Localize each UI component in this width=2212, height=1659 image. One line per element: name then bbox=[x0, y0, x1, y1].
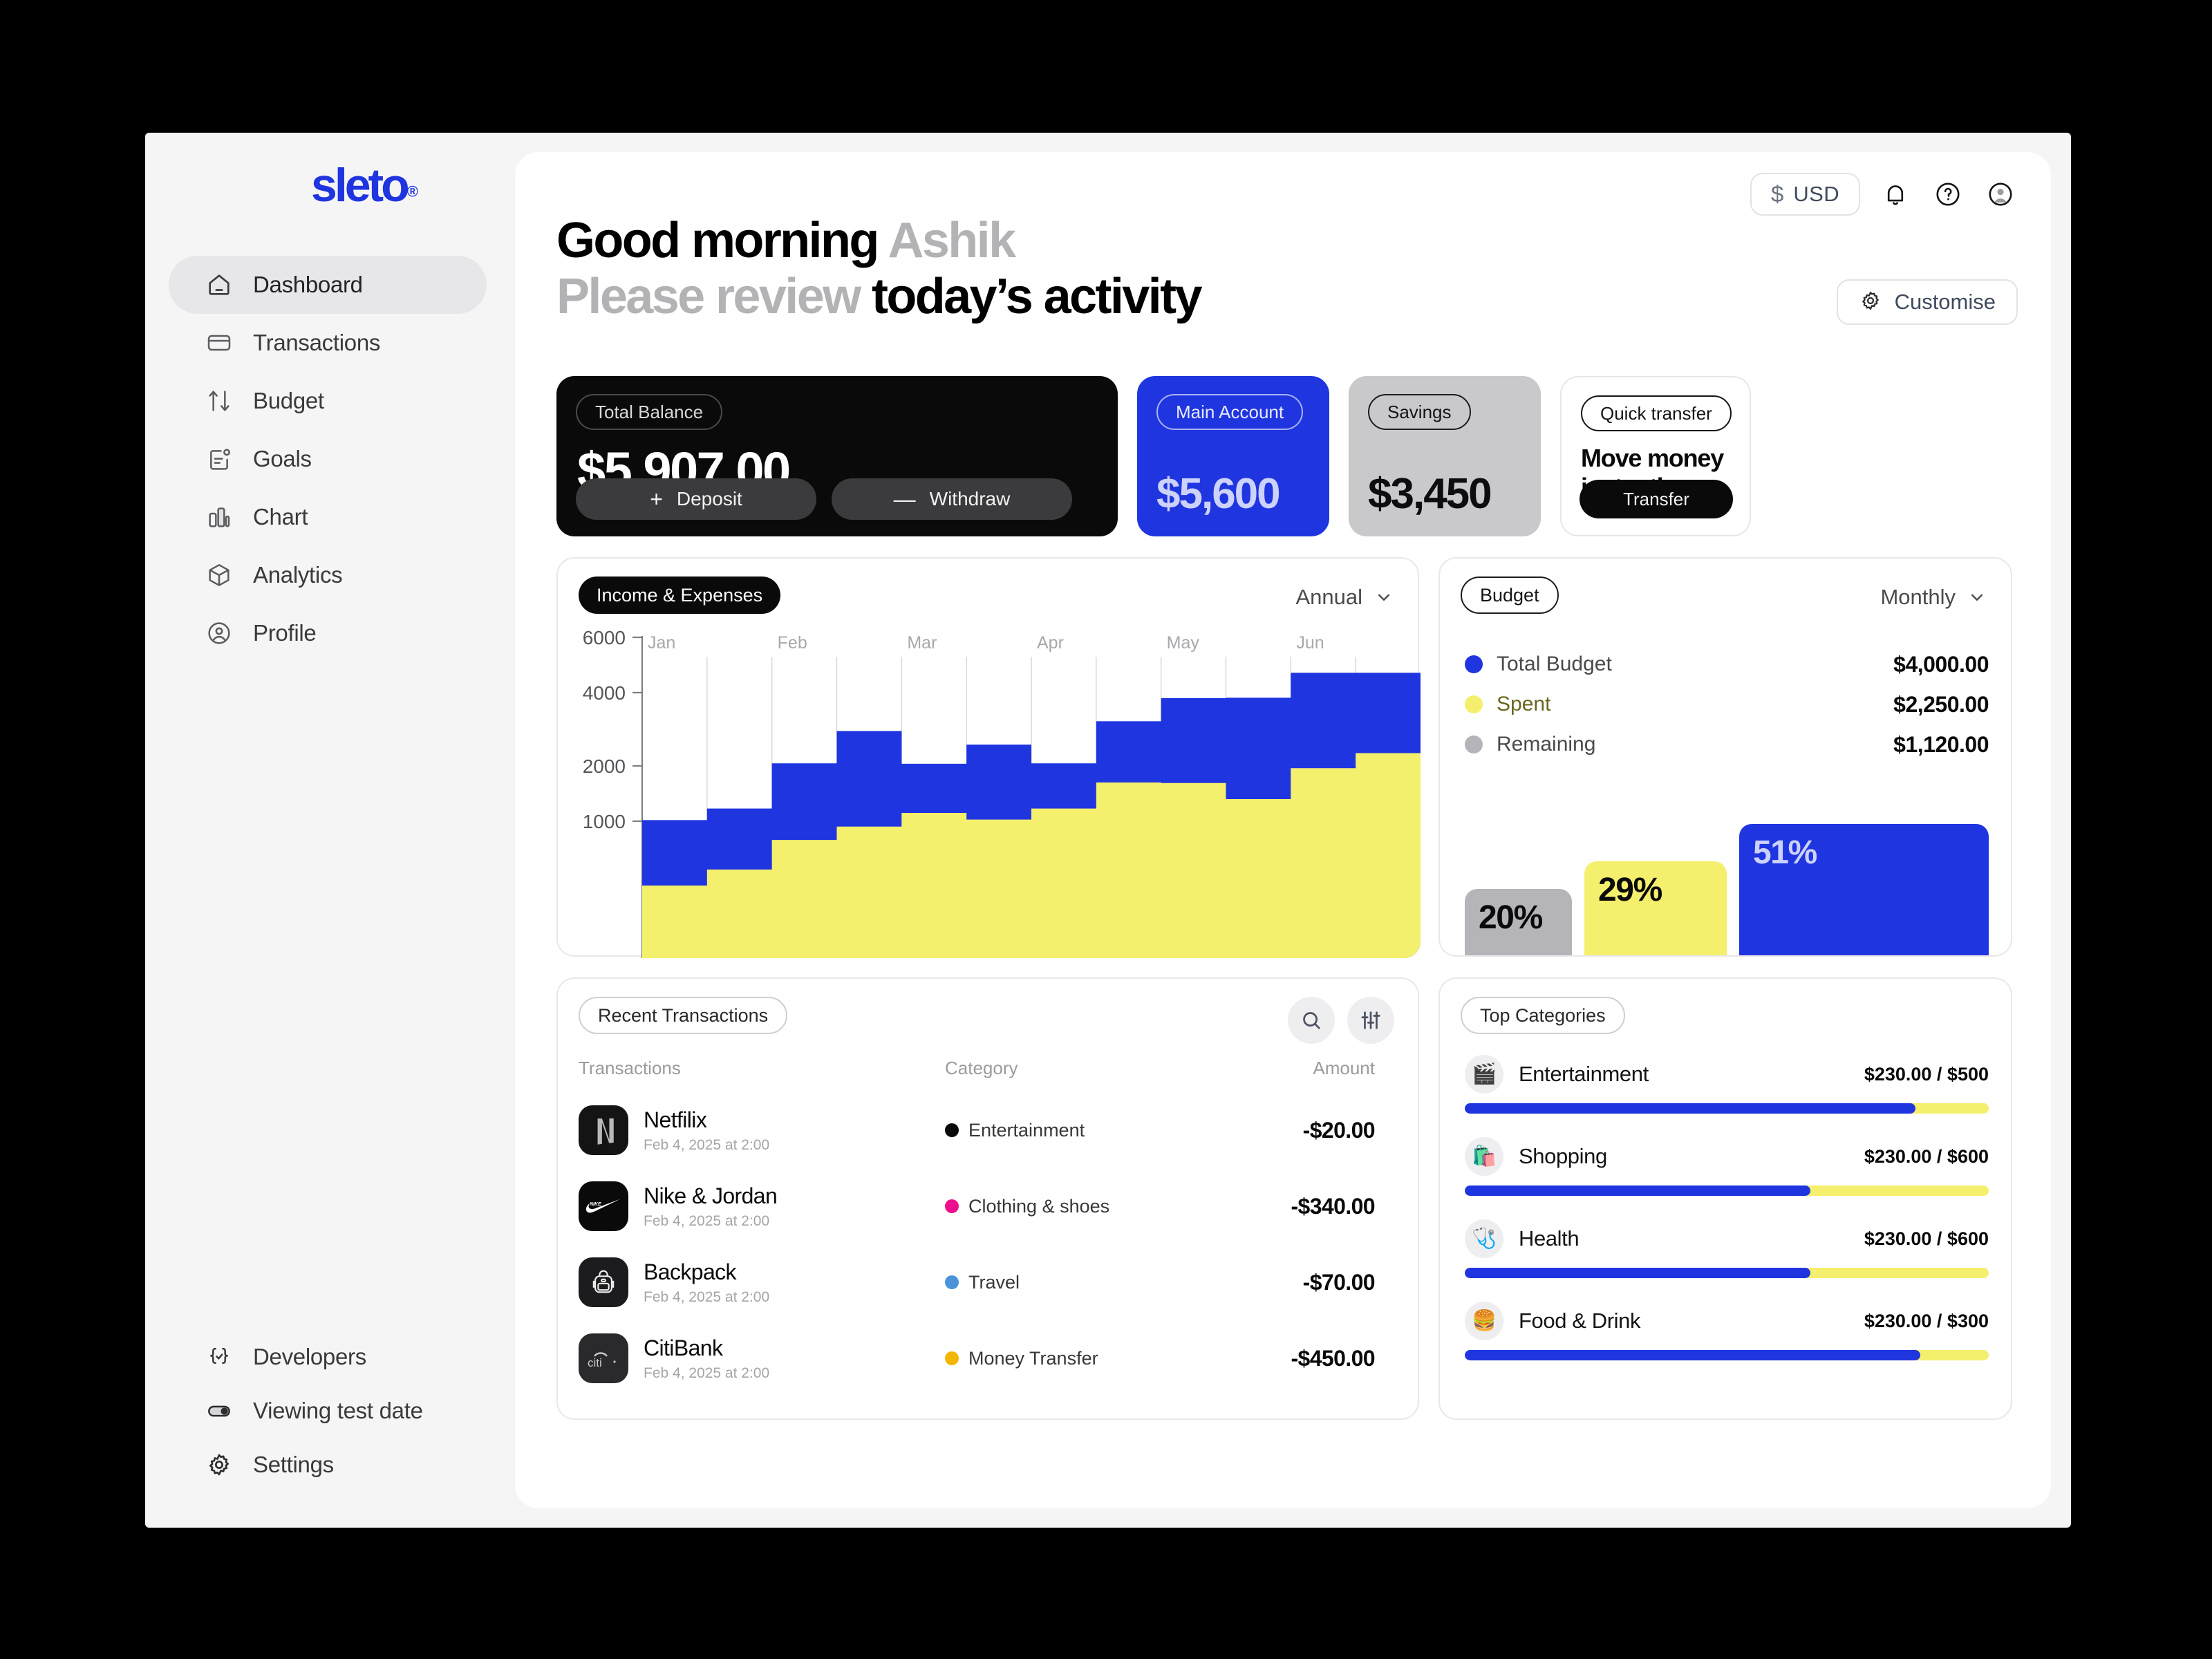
category-dot bbox=[945, 1275, 959, 1289]
budget-bar-total: 51% bbox=[1739, 824, 1989, 955]
category-amount: $230.00 / $300 bbox=[1864, 1311, 1989, 1332]
sidebar-item-chart[interactable]: Chart bbox=[169, 488, 487, 546]
transaction-date: Feb 4, 2025 at 2:00 bbox=[644, 1137, 769, 1154]
savings-pill: Savings bbox=[1368, 394, 1471, 430]
svg-text:Apr: Apr bbox=[1037, 633, 1064, 653]
deposit-button[interactable]: + Deposit bbox=[576, 478, 816, 520]
table-row[interactable]: NIKE Nike & Jordan Feb 4, 2025 at 2:00 C… bbox=[579, 1168, 1400, 1244]
svg-text:6000: 6000 bbox=[583, 628, 626, 648]
category-progress-track bbox=[1465, 1350, 1989, 1360]
list-item[interactable]: 🍔 Food & Drink $230.00 / $300 bbox=[1465, 1302, 1989, 1360]
bar-chart-icon bbox=[205, 503, 234, 532]
total-balance-card: Total Balance $5,907.00 + Deposit — With… bbox=[556, 376, 1118, 536]
brand-name: sleto bbox=[311, 162, 407, 209]
greeting-salutation: Good morning bbox=[556, 213, 878, 268]
chevron-down-icon bbox=[1967, 587, 1987, 608]
budget-bars: 20% 29% 51% bbox=[1465, 824, 1989, 955]
legend-value: $1,120.00 bbox=[1893, 732, 1989, 758]
category-progress-fill bbox=[1465, 1103, 1915, 1114]
transaction-date: Feb 4, 2025 at 2:00 bbox=[644, 1213, 777, 1230]
category-amount: $230.00 / $600 bbox=[1864, 1228, 1989, 1250]
savings-amount: $3,450 bbox=[1368, 469, 1491, 518]
citibank-logo: citi bbox=[579, 1333, 628, 1383]
category-progress-track bbox=[1465, 1103, 1989, 1114]
income-expenses-title: Income & Expenses bbox=[579, 577, 780, 614]
greeting-prompt: Please review bbox=[556, 269, 860, 324]
sidebar-item-goals[interactable]: Goals bbox=[169, 430, 487, 488]
recent-transactions-panel: Recent Transactions Transactions Categor… bbox=[556, 977, 1419, 1420]
transaction-name: Nike & Jordan bbox=[644, 1183, 777, 1209]
greeting-activity: today’s activity bbox=[872, 269, 1201, 324]
transaction-date: Feb 4, 2025 at 2:00 bbox=[644, 1365, 769, 1382]
home-icon bbox=[205, 270, 234, 299]
top-categories-panel: Top Categories 🎬 Entertainment $230.00 /… bbox=[1438, 977, 2012, 1420]
category-header: 🍔 Food & Drink $230.00 / $300 bbox=[1465, 1302, 1989, 1340]
sidebar-item-settings[interactable]: Settings bbox=[169, 1438, 487, 1492]
transaction-date: Feb 4, 2025 at 2:00 bbox=[644, 1289, 769, 1306]
food-drink-icon: 🍔 bbox=[1465, 1302, 1503, 1340]
sidebar-item-label: Analytics bbox=[253, 562, 342, 588]
greeting-username: Ashik bbox=[888, 213, 1014, 268]
budget-panel: Budget Monthly Total Budget $4,000.00 Sp… bbox=[1438, 557, 2012, 957]
shopping-icon: 🛍️ bbox=[1465, 1137, 1503, 1176]
transaction-amount: -$450.00 bbox=[1289, 1346, 1400, 1371]
transfer-button[interactable]: Transfer bbox=[1580, 480, 1733, 518]
main-account-card[interactable]: Main Account $5,600 bbox=[1137, 376, 1329, 536]
sidebar-item-label: Chart bbox=[253, 504, 308, 530]
savings-card[interactable]: Savings $3,450 bbox=[1349, 376, 1541, 536]
income-expenses-panel: Income & Expenses Annual JanFebMarAprMay… bbox=[556, 557, 1419, 957]
bell-icon[interactable] bbox=[1878, 177, 1913, 212]
category-label: Money Transfer bbox=[968, 1348, 1098, 1369]
health-icon: 🩺 bbox=[1465, 1219, 1503, 1258]
plus-icon: + bbox=[650, 487, 663, 512]
transaction-text: CitiBank Feb 4, 2025 at 2:00 bbox=[644, 1335, 769, 1382]
arrows-updown-icon bbox=[205, 386, 234, 415]
gear-icon bbox=[205, 1450, 234, 1479]
customise-label: Customise bbox=[1895, 290, 1996, 315]
greeting-line-1: Good morning Ashik bbox=[556, 213, 1201, 269]
search-button[interactable] bbox=[1288, 997, 1335, 1044]
withdraw-button[interactable]: — Withdraw bbox=[832, 478, 1072, 520]
budget-bar-label: 51% bbox=[1739, 824, 1817, 872]
app-window: sleto® Dashboard Transactions Budget Goa… bbox=[145, 133, 2071, 1528]
sidebar-nav: Dashboard Transactions Budget Goals Char… bbox=[169, 256, 487, 662]
transaction-identity: Netfilix Feb 4, 2025 at 2:00 bbox=[579, 1105, 945, 1155]
backpack-logo bbox=[579, 1257, 628, 1307]
netflix-logo bbox=[579, 1105, 628, 1155]
transaction-text: Nike & Jordan Feb 4, 2025 at 2:00 bbox=[644, 1183, 777, 1230]
transaction-identity: Backpack Feb 4, 2025 at 2:00 bbox=[579, 1257, 945, 1307]
sidebar-item-developers[interactable]: Developers bbox=[169, 1330, 487, 1384]
sidebar-item-transactions[interactable]: Transactions bbox=[169, 314, 487, 372]
quick-transfer-card: Quick transfer Move money instantly Tran… bbox=[1560, 376, 1751, 536]
transactions-actions bbox=[1288, 997, 1394, 1044]
code-check-icon bbox=[205, 1342, 234, 1371]
column-header-category: Category bbox=[945, 1058, 1289, 1079]
main-account-pill: Main Account bbox=[1156, 394, 1303, 430]
category-header: 🎬 Entertainment $230.00 / $500 bbox=[1465, 1055, 1989, 1094]
card-icon bbox=[205, 328, 234, 357]
toggle-icon bbox=[205, 1396, 234, 1425]
transaction-category: Clothing & shoes bbox=[945, 1196, 1289, 1217]
transaction-amount: -$20.00 bbox=[1289, 1118, 1400, 1143]
budget-title: Budget bbox=[1461, 577, 1559, 614]
income-range-label: Annual bbox=[1295, 585, 1362, 610]
svg-text:May: May bbox=[1167, 633, 1200, 653]
category-progress-fill bbox=[1465, 1268, 1810, 1278]
budget-range-selector[interactable]: Monthly bbox=[1880, 585, 1987, 610]
list-item[interactable]: 🛍️ Shopping $230.00 / $600 bbox=[1465, 1137, 1989, 1196]
sidebar-item-budget[interactable]: Budget bbox=[169, 372, 487, 430]
budget-bar-label: 20% bbox=[1465, 889, 1542, 937]
category-name: Food & Drink bbox=[1519, 1309, 1640, 1333]
minus-icon: — bbox=[894, 487, 916, 512]
svg-text:Feb: Feb bbox=[778, 633, 807, 653]
filter-sliders-icon bbox=[1359, 1009, 1382, 1032]
category-header: 🛍️ Shopping $230.00 / $600 bbox=[1465, 1137, 1989, 1176]
category-progress-track bbox=[1465, 1268, 1989, 1278]
legend-dot-remaining bbox=[1465, 735, 1483, 753]
legend-label: Remaining bbox=[1497, 733, 1595, 756]
greeting-line-2: Please review today’s activity bbox=[556, 269, 1201, 325]
nike-logo: NIKE bbox=[579, 1181, 628, 1231]
account-circle-icon[interactable] bbox=[1983, 177, 2018, 212]
goals-note-icon bbox=[205, 444, 234, 474]
category-label: Clothing & shoes bbox=[968, 1196, 1109, 1217]
budget-bar-spent: 29% bbox=[1584, 861, 1727, 955]
transactions-rows: Netfilix Feb 4, 2025 at 2:00 Entertainme… bbox=[579, 1092, 1400, 1396]
top-categories-rows: 🎬 Entertainment $230.00 / $500 🛍️ Shoppi… bbox=[1465, 1055, 1989, 1384]
transaction-identity: NIKE Nike & Jordan Feb 4, 2025 at 2:00 bbox=[579, 1181, 945, 1231]
total-balance-pill: Total Balance bbox=[576, 394, 722, 430]
sidebar-item-label: Goals bbox=[253, 446, 312, 472]
budget-legend: Total Budget $4,000.00 Spent $2,250.00 R… bbox=[1465, 644, 1989, 765]
transaction-amount: -$340.00 bbox=[1289, 1194, 1400, 1219]
svg-text:citi: citi bbox=[588, 1356, 602, 1369]
brand-logo[interactable]: sleto® bbox=[311, 162, 418, 209]
quick-transfer-pill: Quick transfer bbox=[1581, 395, 1732, 431]
registered-mark: ® bbox=[407, 183, 418, 200]
category-progress-fill bbox=[1465, 1350, 1920, 1360]
category-amount: $230.00 / $600 bbox=[1864, 1146, 1989, 1168]
income-expenses-chart: JanFebMarAprMayJun1000200040006000 bbox=[558, 628, 1421, 958]
income-range-selector[interactable]: Annual bbox=[1295, 585, 1394, 610]
budget-bar-label: 29% bbox=[1584, 861, 1662, 909]
table-row[interactable]: Backpack Feb 4, 2025 at 2:00 Travel -$70… bbox=[579, 1244, 1400, 1320]
sidebar-item-label: Settings bbox=[253, 1452, 334, 1478]
legend-label: Total Budget bbox=[1497, 653, 1612, 676]
gear-icon bbox=[1859, 289, 1882, 316]
topbar: $ USD bbox=[1750, 173, 2018, 216]
balance-actions: + Deposit — Withdraw bbox=[576, 478, 1072, 520]
transactions-column-headers: Transactions Category Amount bbox=[579, 1058, 1400, 1079]
svg-text:NIKE: NIKE bbox=[590, 1202, 601, 1207]
recent-transactions-title: Recent Transactions bbox=[579, 997, 787, 1034]
category-name: Health bbox=[1519, 1226, 1579, 1251]
list-item[interactable]: 🎬 Entertainment $230.00 / $500 bbox=[1465, 1055, 1989, 1114]
category-dot bbox=[945, 1199, 959, 1213]
dollar-icon: $ bbox=[1771, 181, 1783, 207]
transfer-label: Transfer bbox=[1623, 489, 1689, 510]
sidebar: sleto® Dashboard Transactions Budget Goa… bbox=[145, 133, 515, 1528]
transaction-text: Backpack Feb 4, 2025 at 2:00 bbox=[644, 1259, 769, 1306]
category-dot bbox=[945, 1123, 959, 1137]
category-amount: $230.00 / $500 bbox=[1864, 1064, 1989, 1085]
svg-text:Jun: Jun bbox=[1296, 633, 1324, 653]
entertainment-icon: 🎬 bbox=[1465, 1055, 1503, 1094]
category-progress-fill bbox=[1465, 1185, 1810, 1196]
transaction-text: Netfilix Feb 4, 2025 at 2:00 bbox=[644, 1107, 769, 1154]
budget-legend-row: Spent $2,250.00 bbox=[1465, 684, 1989, 724]
user-circle-icon bbox=[205, 619, 234, 648]
category-name: Shopping bbox=[1519, 1144, 1607, 1169]
cube-icon bbox=[205, 561, 234, 590]
transaction-name: CitiBank bbox=[644, 1335, 769, 1361]
greeting-block: Good morning Ashik Please review today’s… bbox=[556, 213, 1201, 326]
sidebar-item-label: Profile bbox=[253, 620, 316, 646]
list-item[interactable]: 🩺 Health $230.00 / $600 bbox=[1465, 1219, 1989, 1278]
sidebar-bottom-nav: Developers Viewing test date Settings bbox=[169, 1330, 487, 1492]
table-row[interactable]: citi CitiBank Feb 4, 2025 at 2:00 Money … bbox=[579, 1320, 1400, 1396]
main-account-amount: $5,600 bbox=[1156, 469, 1280, 518]
sidebar-item-label: Dashboard bbox=[253, 272, 363, 298]
sidebar-item-label: Viewing test date bbox=[253, 1398, 423, 1424]
transaction-name: Backpack bbox=[644, 1259, 769, 1285]
category-dot bbox=[945, 1351, 959, 1365]
transaction-identity: citi CitiBank Feb 4, 2025 at 2:00 bbox=[579, 1333, 945, 1383]
transaction-category: Entertainment bbox=[945, 1120, 1289, 1141]
search-icon bbox=[1300, 1009, 1323, 1032]
legend-dot-total-budget bbox=[1465, 655, 1483, 673]
category-progress-track bbox=[1465, 1185, 1989, 1196]
category-name: Entertainment bbox=[1519, 1062, 1649, 1087]
column-header-transactions: Transactions bbox=[579, 1058, 945, 1079]
withdraw-label: Withdraw bbox=[930, 488, 1011, 510]
transaction-amount: -$70.00 bbox=[1289, 1270, 1400, 1295]
currency-label: USD bbox=[1793, 182, 1839, 207]
sidebar-item-analytics[interactable]: Analytics bbox=[169, 546, 487, 604]
sidebar-item-dashboard[interactable]: Dashboard bbox=[169, 256, 487, 314]
sidebar-item-viewing-test-date[interactable]: Viewing test date bbox=[169, 1384, 487, 1438]
chevron-down-icon bbox=[1374, 587, 1394, 608]
customise-button[interactable]: Customise bbox=[1837, 279, 2018, 325]
transaction-category: Travel bbox=[945, 1272, 1289, 1293]
currency-selector[interactable]: $ USD bbox=[1750, 173, 1860, 216]
budget-legend-row: Remaining $1,120.00 bbox=[1465, 724, 1989, 765]
sidebar-item-label: Developers bbox=[253, 1344, 366, 1370]
filter-button[interactable] bbox=[1347, 997, 1394, 1044]
income-chart-svg: JanFebMarAprMayJun1000200040006000 bbox=[558, 628, 1421, 958]
account-cards: Total Balance $5,907.00 + Deposit — With… bbox=[556, 376, 2012, 536]
sidebar-item-label: Transactions bbox=[253, 330, 380, 356]
main-content: $ USD Good morning Ashik Please review t… bbox=[515, 152, 2051, 1508]
help-circle-icon[interactable] bbox=[1931, 177, 1965, 212]
sidebar-item-label: Budget bbox=[253, 388, 324, 414]
svg-text:Jan: Jan bbox=[648, 633, 675, 653]
svg-text:1000: 1000 bbox=[583, 811, 626, 832]
deposit-label: Deposit bbox=[677, 488, 742, 510]
column-header-amount: Amount bbox=[1289, 1058, 1400, 1079]
legend-label: Spent bbox=[1497, 693, 1550, 716]
legend-value: $2,250.00 bbox=[1893, 692, 1989, 718]
svg-text:Mar: Mar bbox=[907, 633, 937, 653]
budget-range-label: Monthly bbox=[1880, 585, 1956, 610]
category-label: Entertainment bbox=[968, 1120, 1085, 1141]
svg-text:2000: 2000 bbox=[583, 756, 626, 777]
transaction-name: Netfilix bbox=[644, 1107, 769, 1133]
transaction-category: Money Transfer bbox=[945, 1348, 1289, 1369]
legend-value: $4,000.00 bbox=[1893, 652, 1989, 677]
category-header: 🩺 Health $230.00 / $600 bbox=[1465, 1219, 1989, 1258]
budget-legend-row: Total Budget $4,000.00 bbox=[1465, 644, 1989, 684]
sidebar-item-profile[interactable]: Profile bbox=[169, 604, 487, 662]
table-row[interactable]: Netfilix Feb 4, 2025 at 2:00 Entertainme… bbox=[579, 1092, 1400, 1168]
top-categories-title: Top Categories bbox=[1461, 997, 1625, 1034]
category-label: Travel bbox=[968, 1272, 1020, 1293]
budget-bar-remaining: 20% bbox=[1465, 889, 1572, 955]
svg-text:4000: 4000 bbox=[583, 682, 626, 704]
legend-dot-spent bbox=[1465, 695, 1483, 713]
